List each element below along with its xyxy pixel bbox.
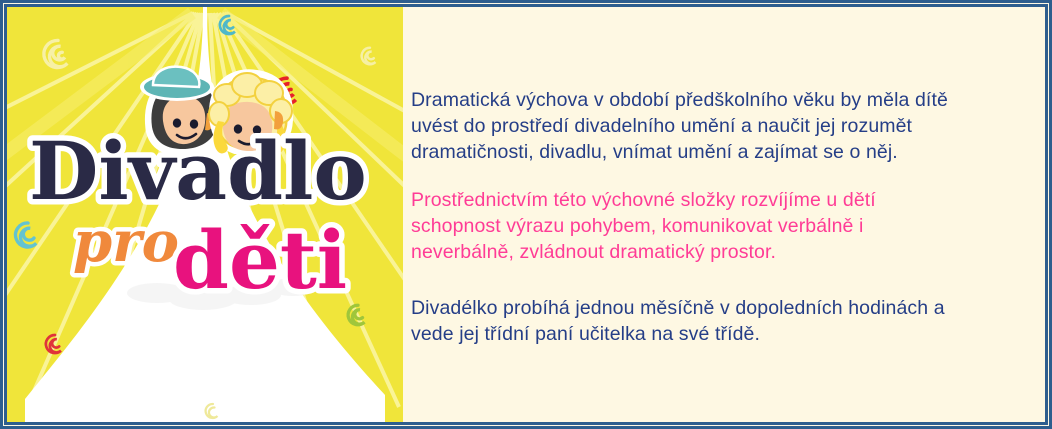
logo-deti-text: děti — [173, 213, 347, 307]
paragraph-2-line-3: neverbálně, zvládnout dramatický prostor… — [411, 239, 1041, 265]
logo-group: Divadlo pro děti — [7, 7, 403, 422]
poster-image: Divadlo pro děti — [7, 7, 403, 422]
logo-pro-text: pro — [73, 209, 179, 275]
paragraph-2: Prostřednictvím této výchovné složky roz… — [411, 187, 1041, 265]
paragraph-3: Divadélko probíhá jednou měsíčně v dopol… — [411, 295, 1041, 347]
paragraph-1-line-1: Dramatická výchova v období předškolního… — [411, 87, 1041, 113]
paragraph-3-line-1: Divadélko probíhá jednou měsíčně v dopol… — [411, 295, 1041, 321]
logo-word-deti: děti — [167, 212, 397, 312]
slide-root: Divadlo pro děti Dramatická výchova v ob… — [0, 0, 1052, 429]
paragraph-1-line-3: dramatičnosti, divadlu, vnímat umění a z… — [411, 139, 1041, 165]
paragraph-3-line-2: vede jej třídní paní učitelka na své tří… — [411, 321, 1041, 347]
paragraph-2-line-2: schopnost výrazu pohybem, komunikovat ve… — [411, 213, 1041, 239]
paragraph-2-line-1: Prostřednictvím této výchovné složky roz… — [411, 187, 1041, 213]
text-content-panel: Dramatická výchova v období předškolního… — [404, 7, 1045, 422]
paragraph-1: Dramatická výchova v období předškolního… — [411, 87, 1041, 165]
paragraph-1-line-2: uvést do prostředí divadelního umění a n… — [411, 113, 1041, 139]
